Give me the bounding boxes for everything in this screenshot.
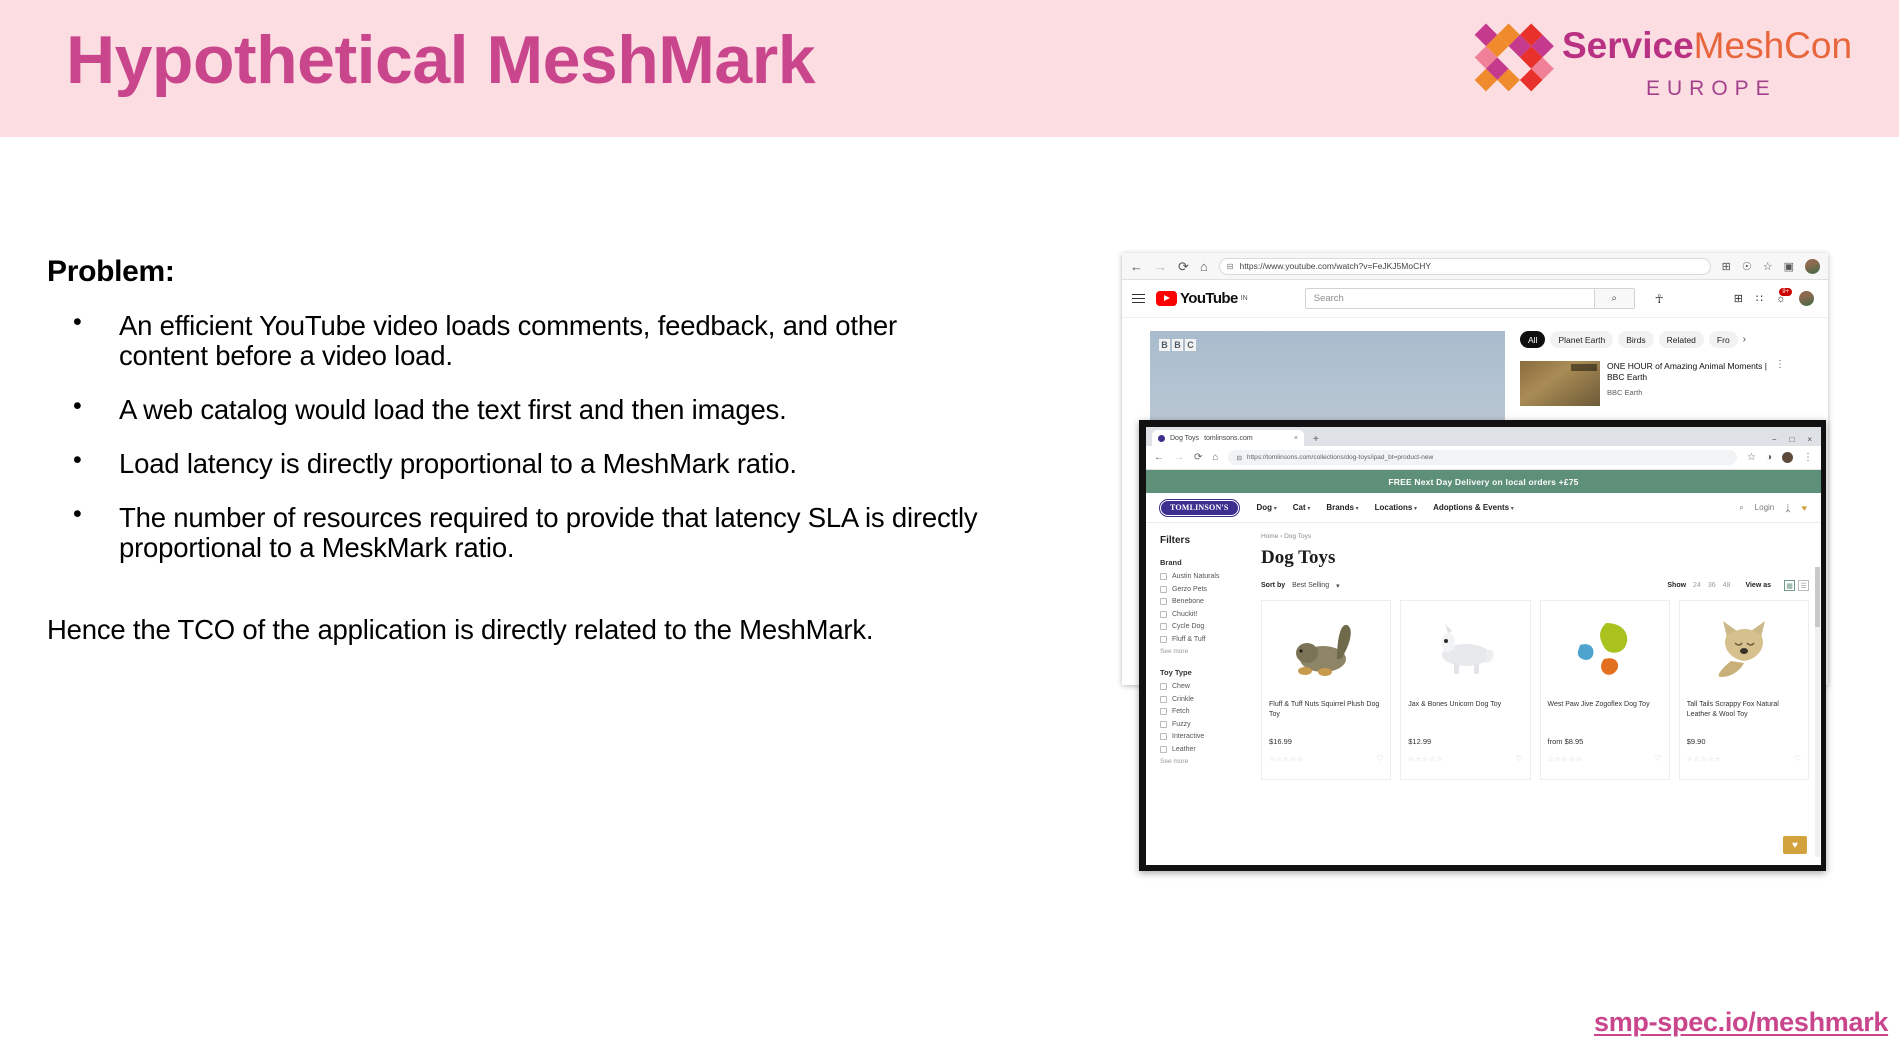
- search-placeholder: Search: [1306, 293, 1594, 304]
- product-card[interactable]: Fluff & Tuff Nuts Squirrel Plush Dog Toy…: [1261, 600, 1391, 780]
- search-icon[interactable]: ⌕: [1739, 503, 1743, 513]
- product-card-footer: ☆☆☆☆☆ ♡: [1548, 754, 1662, 763]
- overflow-menu-icon[interactable]: ⋮: [1775, 361, 1785, 406]
- video-thumbnail: [1520, 361, 1600, 406]
- filter-option[interactable]: Gerzo Pets: [1160, 586, 1251, 593]
- product-title[interactable]: Fluff & Tuff Nuts Squirrel Plush Dog Toy: [1269, 700, 1383, 730]
- site-header: TOMLINSON'S Dog Cat Brands Locations Ado…: [1146, 493, 1821, 523]
- browser-tab-bar: Dog Toys tomlinsons.com × + − □ ×: [1146, 427, 1821, 446]
- list-view-icon[interactable]: ☰: [1798, 580, 1809, 591]
- chip-from[interactable]: Fro: [1709, 331, 1738, 348]
- shop-main: Filters Brand Austin Naturals Gerzo Pets…: [1146, 523, 1821, 853]
- edge-toolbar: ← → ⟳ ⌂ ⊟ https://www.youtube.com/watch?…: [1122, 253, 1828, 280]
- filter-option-label: Fetch: [1172, 708, 1190, 715]
- wishlist-fab-button[interactable]: ♥: [1783, 836, 1807, 854]
- filter-option-label: Interactive: [1172, 733, 1204, 740]
- minimize-icon[interactable]: −: [1772, 435, 1777, 444]
- breadcrumb[interactable]: Home › Dog Toys: [1261, 533, 1809, 540]
- product-card[interactable]: West Paw Jive Zogoflex Dog Toy from $8.9…: [1540, 600, 1670, 780]
- see-more-brands-link[interactable]: See more: [1160, 648, 1251, 655]
- filter-option-label: Benebone: [1172, 598, 1204, 605]
- logo-region-text: EUROPE: [1646, 77, 1777, 101]
- chrome-toolbar: ← → ⟳ ⌂ ⊟ https://tomlinsons.com/collect…: [1146, 446, 1821, 470]
- chip-planet-earth[interactable]: Planet Earth: [1550, 331, 1613, 348]
- login-link[interactable]: Login: [1755, 503, 1775, 512]
- bookmark-star-icon[interactable]: ☆: [1747, 452, 1756, 463]
- notification-badge: 9+: [1779, 288, 1792, 296]
- forward-icon[interactable]: →: [1174, 452, 1184, 463]
- notifications-bell-icon[interactable]: ☼9+: [1776, 293, 1786, 305]
- show-option-36[interactable]: 36: [1708, 582, 1716, 589]
- chevron-down-icon[interactable]: ▾: [1336, 582, 1340, 590]
- checkbox-icon[interactable]: [1160, 708, 1167, 715]
- page-title: Hypothetical MeshMark: [66, 21, 815, 99]
- home-icon[interactable]: ⌂: [1200, 260, 1208, 273]
- problem-heading: Problem:: [47, 255, 987, 289]
- nav-item-cat[interactable]: Cat: [1293, 503, 1311, 512]
- checkbox-icon[interactable]: [1160, 721, 1167, 728]
- reload-icon[interactable]: ⟳: [1178, 260, 1189, 273]
- product-card[interactable]: Tall Tails Scrappy Fox Natural Leather &…: [1679, 600, 1809, 780]
- bullet-item: The number of resources required to prov…: [47, 503, 987, 563]
- create-video-icon[interactable]: ⊞: [1734, 292, 1743, 305]
- checkbox-icon[interactable]: [1160, 636, 1167, 643]
- product-image: [1687, 607, 1801, 692]
- product-title[interactable]: Tall Tails Scrappy Fox Natural Leather &…: [1687, 700, 1801, 730]
- meshmark-spec-link[interactable]: smp-spec.io/meshmark: [1594, 1007, 1888, 1038]
- product-image: [1408, 607, 1522, 692]
- filter-option[interactable]: Chuckit!: [1160, 611, 1251, 618]
- filter-option-label: Leather: [1172, 746, 1196, 753]
- extensions-icon[interactable]: ◑: [1766, 452, 1772, 463]
- view-as-toggle: ▦ ☰: [1784, 580, 1809, 591]
- filter-group-toytype-label: Toy Type: [1160, 668, 1251, 677]
- video-meta: ONE HOUR of Amazing Animal Moments | BBC…: [1607, 361, 1768, 406]
- youtube-logo-text: YouTube: [1180, 290, 1238, 307]
- product-price: $12.99: [1408, 737, 1522, 746]
- logo-meshcon-text: MeshCon: [1694, 25, 1852, 66]
- rating-stars: ☆☆☆☆☆: [1548, 755, 1583, 763]
- shop-browser-window[interactable]: Dog Toys tomlinsons.com × + − □ × ← → ⟳ …: [1139, 420, 1826, 871]
- show-option-24[interactable]: 24: [1693, 582, 1701, 589]
- checkbox-icon[interactable]: [1160, 598, 1167, 605]
- profile-avatar[interactable]: [1782, 452, 1793, 463]
- lock-icon: ⊟: [1227, 262, 1234, 271]
- problem-bullet-list: An efficient YouTube video loads comment…: [47, 311, 987, 563]
- product-price: $16.99: [1269, 737, 1383, 746]
- checkbox-icon[interactable]: [1160, 611, 1167, 618]
- address-bar-url: https://www.youtube.com/watch?v=FeJKJ5Mo…: [1239, 261, 1431, 271]
- wishlist-heart-icon[interactable]: ♡: [1794, 754, 1801, 763]
- product-card-footer: ☆☆☆☆☆ ♡: [1687, 754, 1801, 763]
- servicemeshcon-logo-mark: [1466, 12, 1554, 100]
- bullet-item: A web catalog would load the text first …: [47, 395, 987, 425]
- servicemeshcon-logo: ServiceMeshCon EUROPE: [1466, 10, 1876, 120]
- nav-item-dog[interactable]: Dog: [1257, 503, 1277, 512]
- filter-option[interactable]: Fuzzy: [1160, 721, 1251, 728]
- filter-option[interactable]: Chew: [1160, 683, 1251, 690]
- close-icon[interactable]: ×: [1294, 435, 1298, 442]
- product-card-footer: ☆☆☆☆☆ ♡: [1269, 754, 1383, 763]
- bullet-item: An efficient YouTube video loads comment…: [47, 311, 987, 371]
- rating-stars: ☆☆☆☆☆: [1269, 755, 1304, 763]
- browser-essentials-icon[interactable]: ▣: [1784, 260, 1794, 273]
- slide-content: Problem: An efficient YouTube video load…: [47, 255, 987, 645]
- filter-option-label: Austin Naturals: [1172, 573, 1219, 580]
- cart-icon[interactable]: ᛣ: [1785, 503, 1790, 513]
- grid-view-icon[interactable]: ▦: [1784, 580, 1795, 591]
- hamburger-menu-icon[interactable]: [1132, 291, 1145, 306]
- product-listing: Home › Dog Toys Dog Toys Sort by Best Se…: [1251, 523, 1821, 853]
- youtube-logo[interactable]: YouTube IN: [1156, 290, 1248, 307]
- favorites-icon[interactable]: ☆: [1763, 260, 1773, 273]
- chrome-menu-icon[interactable]: ⋮: [1803, 452, 1813, 463]
- sort-select[interactable]: Best Selling: [1292, 582, 1329, 589]
- account-avatar[interactable]: [1799, 291, 1814, 306]
- promo-banner: FREE Next Day Delivery on local orders +…: [1146, 470, 1821, 493]
- address-bar[interactable]: ⊟ https://www.youtube.com/watch?v=FeJKJ5…: [1219, 258, 1711, 275]
- show-options: 24 36 48: [1693, 582, 1730, 589]
- filters-heading: Filters: [1160, 535, 1251, 546]
- product-grid: Fluff & Tuff Nuts Squirrel Plush Dog Toy…: [1261, 600, 1809, 780]
- avatar[interactable]: [1805, 259, 1820, 274]
- product-title[interactable]: West Paw Jive Zogoflex Dog Toy: [1548, 700, 1662, 730]
- edge-toolbar-icons: ⊞ ☉ ☆ ▣: [1722, 259, 1820, 274]
- chevron-right-icon[interactable]: ›: [1743, 334, 1746, 345]
- back-icon[interactable]: ←: [1154, 452, 1164, 463]
- browser-tab[interactable]: Dog Toys tomlinsons.com ×: [1152, 430, 1304, 446]
- forward-icon[interactable]: →: [1154, 260, 1167, 273]
- reload-icon[interactable]: ⟳: [1194, 452, 1202, 463]
- filter-option[interactable]: Fluff & Tuff: [1160, 636, 1251, 643]
- wishlist-heart-icon[interactable]: ♡: [1376, 754, 1383, 763]
- show-option-48[interactable]: 48: [1723, 582, 1731, 589]
- filter-option[interactable]: Crinkle: [1160, 696, 1251, 703]
- closing-paragraph: Hence the TCO of the application is dire…: [47, 615, 942, 645]
- product-card[interactable]: Jax & Bones Unicorn Dog Toy $12.99 ☆☆☆☆☆…: [1400, 600, 1530, 780]
- filter-option-label: Fluff & Tuff: [1172, 636, 1206, 643]
- checkbox-icon[interactable]: [1160, 696, 1167, 703]
- bbc-letter: C: [1185, 339, 1196, 351]
- site-nav: Dog Cat Brands Locations Adoptions & Eve…: [1257, 503, 1514, 512]
- split-screen-icon[interactable]: ⊞: [1722, 260, 1731, 273]
- list-item[interactable]: ONE HOUR of Amazing Animal Moments | BBC…: [1520, 361, 1785, 406]
- filter-option[interactable]: Interactive: [1160, 733, 1251, 740]
- sort-toolbar: Sort by Best Selling ▾ Show 24 36 48 Vie…: [1261, 580, 1809, 600]
- checkbox-icon[interactable]: [1160, 623, 1167, 630]
- nav-item-adoptions-events[interactable]: Adoptions & Events: [1433, 503, 1514, 512]
- nav-item-brands[interactable]: Brands: [1326, 503, 1358, 512]
- vertical-scrollbar[interactable]: [1815, 567, 1820, 857]
- wishlist-icon[interactable]: ♥: [1802, 503, 1807, 513]
- tab-subtitle: tomlinsons.com: [1204, 435, 1253, 442]
- bullet-item: Load latency is directly proportional to…: [47, 449, 987, 479]
- chip-birds[interactable]: Birds: [1618, 331, 1653, 348]
- collection-title: Dog Toys: [1261, 547, 1809, 569]
- nav-item-locations[interactable]: Locations: [1375, 503, 1417, 512]
- logo-wordmark: ServiceMeshCon: [1562, 27, 1852, 64]
- address-bar[interactable]: ⊟ https://tomlinsons.com/collections/dog…: [1228, 450, 1737, 465]
- video-title: ONE HOUR of Amazing Animal Moments | BBC…: [1607, 361, 1768, 384]
- tab-title: Dog Toys: [1170, 435, 1199, 442]
- filter-option-label: Chew: [1172, 683, 1190, 690]
- chip-all[interactable]: All: [1520, 331, 1545, 348]
- product-price: $9.90: [1687, 737, 1801, 746]
- product-title[interactable]: Jax & Bones Unicorn Dog Toy: [1408, 700, 1522, 730]
- checkbox-icon[interactable]: [1160, 573, 1167, 580]
- close-window-icon[interactable]: ×: [1807, 435, 1812, 444]
- filter-option-label: Fuzzy: [1172, 721, 1191, 728]
- bbc-letter: B: [1172, 339, 1183, 351]
- favicon-icon: [1158, 435, 1165, 442]
- filter-option[interactable]: Austin Naturals: [1160, 573, 1251, 580]
- filter-option-label: Crinkle: [1172, 696, 1194, 703]
- checkbox-icon[interactable]: [1160, 733, 1167, 740]
- youtube-header-actions: ⊞ ∷ ☼9+: [1734, 291, 1818, 306]
- new-tab-icon[interactable]: +: [1308, 434, 1324, 446]
- checkbox-icon[interactable]: [1160, 683, 1167, 690]
- maximize-icon[interactable]: □: [1789, 435, 1794, 444]
- microphone-icon[interactable]: ☥: [1655, 292, 1664, 306]
- address-bar-url: https://tomlinsons.com/collections/dog-t…: [1247, 454, 1433, 461]
- back-icon[interactable]: ←: [1130, 260, 1143, 273]
- sort-label: Sort by: [1261, 582, 1285, 589]
- site-header-actions: ⌕ Login ᛣ ♥: [1739, 503, 1807, 513]
- apps-grid-icon[interactable]: ∷: [1756, 292, 1763, 305]
- filter-chip-row: All Planet Earth Birds Related Fro ›: [1520, 331, 1785, 348]
- youtube-country-code: IN: [1241, 295, 1248, 302]
- shop-browser-viewport: Dog Toys tomlinsons.com × + − □ × ← → ⟳ …: [1146, 427, 1821, 865]
- bbc-letter: B: [1159, 339, 1170, 351]
- filter-option-label: Cycle Dog: [1172, 623, 1204, 630]
- filter-option[interactable]: Benebone: [1160, 598, 1251, 605]
- filter-option[interactable]: Fetch: [1160, 708, 1251, 715]
- checkbox-icon[interactable]: [1160, 746, 1167, 753]
- wishlist-heart-icon[interactable]: ♡: [1515, 754, 1522, 763]
- view-as-label: View as: [1745, 582, 1771, 589]
- filter-option[interactable]: Cycle Dog: [1160, 623, 1251, 630]
- rating-stars: ☆☆☆☆☆: [1687, 755, 1722, 763]
- rating-stars: ☆☆☆☆☆: [1408, 755, 1443, 763]
- product-price: from $8.95: [1548, 737, 1662, 746]
- site-logo[interactable]: TOMLINSON'S: [1160, 500, 1239, 516]
- product-image: [1269, 607, 1383, 692]
- video-channel: BBC Earth: [1607, 388, 1768, 398]
- window-controls: − □ ×: [1772, 435, 1821, 446]
- chip-related[interactable]: Related: [1659, 331, 1704, 348]
- see-more-toytype-link[interactable]: See more: [1160, 758, 1251, 765]
- search-input[interactable]: Search ⌕: [1305, 288, 1635, 309]
- filter-option-label: Gerzo Pets: [1172, 586, 1207, 593]
- home-icon[interactable]: ⌂: [1212, 452, 1218, 463]
- bbc-logo: B B C: [1159, 339, 1196, 351]
- show-label: Show: [1667, 582, 1686, 589]
- filter-option-label: Chuckit!: [1172, 611, 1197, 618]
- product-image: [1548, 607, 1662, 692]
- youtube-play-icon: [1156, 291, 1177, 306]
- wishlist-heart-icon[interactable]: ♡: [1655, 754, 1662, 763]
- youtube-masthead: YouTube IN Search ⌕ ☥ ⊞ ∷ ☼9+: [1122, 280, 1828, 318]
- lock-icon: ⊟: [1236, 454, 1241, 462]
- filter-option[interactable]: Leather: [1160, 746, 1251, 753]
- filter-group-brand-label: Brand: [1160, 558, 1251, 567]
- logo-service-text: Service: [1562, 25, 1694, 66]
- collections-icon[interactable]: ☉: [1742, 260, 1752, 273]
- search-icon[interactable]: ⌕: [1594, 289, 1634, 308]
- checkbox-icon[interactable]: [1160, 586, 1167, 593]
- scrollbar-thumb[interactable]: [1815, 567, 1820, 627]
- filters-sidebar: Filters Brand Austin Naturals Gerzo Pets…: [1146, 523, 1251, 853]
- product-card-footer: ☆☆☆☆☆ ♡: [1408, 754, 1522, 763]
